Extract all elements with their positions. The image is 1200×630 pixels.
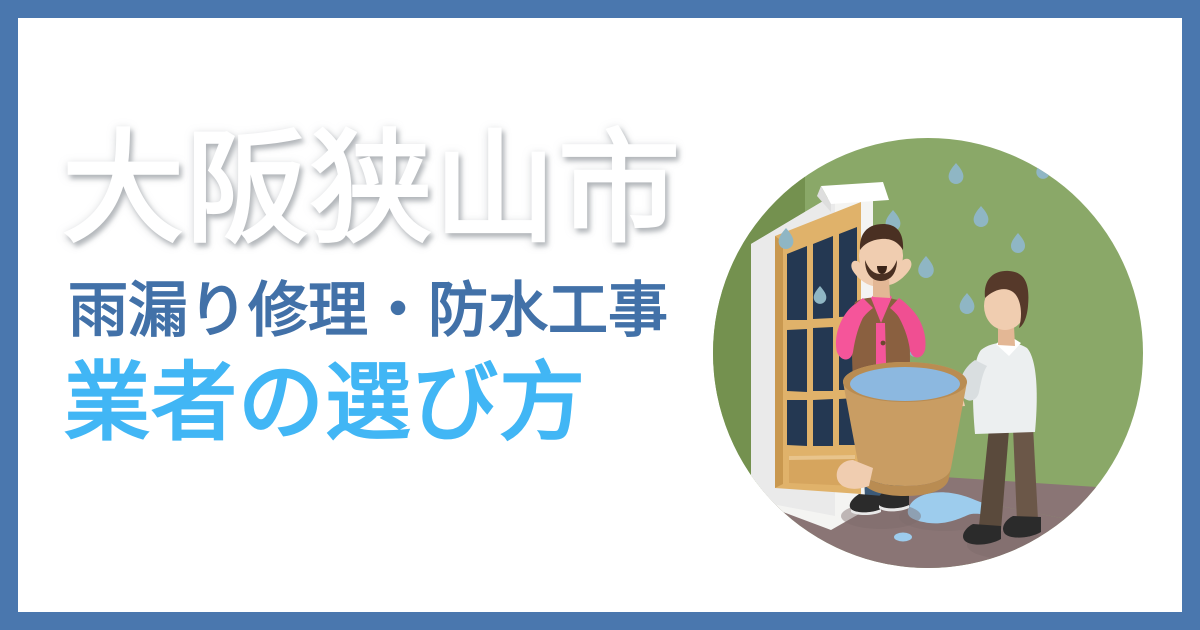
banner-canvas: 大阪狭山市 雨漏り修理・防水工事 業者の選び方 <box>0 0 1200 630</box>
frame-border-top <box>0 0 1200 18</box>
page-accent-line: 業者の選び方 <box>64 354 722 454</box>
page-subtitle: 雨漏り修理・防水工事 <box>68 275 722 348</box>
headline-stack: 大阪狭山市 雨漏り修理・防水工事 業者の選び方 <box>62 120 722 454</box>
homeowner-neck <box>873 278 890 298</box>
frame-border-right <box>1182 0 1200 630</box>
frame-border-left <box>0 0 18 630</box>
carrier-shoe-front <box>1003 516 1041 538</box>
page-title: 大阪狭山市 <box>62 120 722 259</box>
bucket-water <box>850 367 960 401</box>
leak-illustration <box>713 138 1143 568</box>
carrier-shoe-back <box>963 524 1001 545</box>
frame-border-bottom <box>0 612 1200 630</box>
puddle-droplet-b <box>894 533 912 542</box>
carrier-shirt <box>973 343 1037 434</box>
door-slab-edge <box>775 236 783 488</box>
